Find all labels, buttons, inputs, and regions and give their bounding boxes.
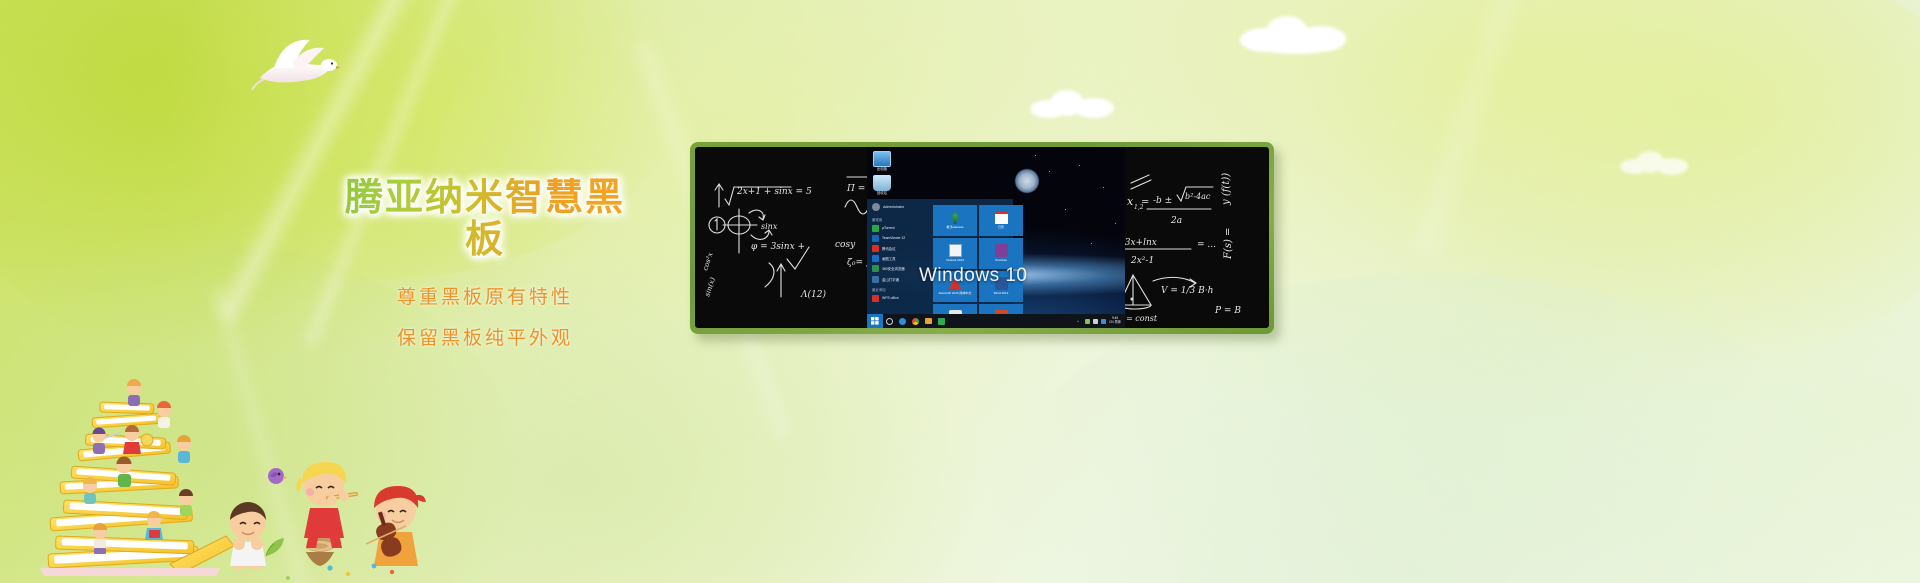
recycle-bin-icon [873, 175, 891, 191]
edge-icon[interactable] [896, 314, 909, 328]
confetti-dot [372, 564, 377, 569]
child-figure [145, 511, 163, 540]
hero-subtitle-1: 尊重黑板原有特性 [335, 288, 635, 307]
cloud-icon [1620, 150, 1690, 176]
svg-text:x: x [1127, 195, 1134, 208]
note-icon [995, 244, 1008, 257]
tile[interactable]: 日历 [979, 205, 1023, 236]
confetti-dot [286, 576, 290, 580]
child-figure [177, 435, 191, 463]
background-blob [1300, 0, 1920, 370]
app-icon [872, 255, 879, 262]
sprout-icon [266, 538, 284, 556]
child-sitting [230, 502, 266, 569]
svg-text:2x²-1: 2x²-1 [1130, 256, 1154, 266]
blackboard-surface[interactable]: 2x+1 + sinx = 5 Π = 3.1415926 sinx e x² … [695, 147, 1269, 328]
system-tray[interactable]: ^ 9:45 CN 简体 [1077, 317, 1125, 324]
windows-desktop-panel[interactable]: 此电脑 回收站 Administrator 最常用 [867, 147, 1125, 328]
child-flute [296, 462, 356, 548]
bird-icon [268, 468, 287, 484]
desktop-icon-computer[interactable]: 此电脑 [871, 151, 893, 172]
hero-text-block: 腾亚纳米智慧黑板 尊重黑板原有特性 保留黑板纯平外观 [335, 178, 635, 348]
svg-text:-b ±: -b ± [1153, 196, 1172, 206]
app-icon [872, 225, 879, 232]
windows-start-icon[interactable] [867, 314, 883, 328]
svg-text:= ...: = ... [1197, 240, 1216, 250]
app-icon [872, 276, 879, 283]
avatar [872, 203, 880, 211]
cloud-icon [1030, 88, 1116, 120]
page-title: 腾亚纳米智慧黑板 [335, 178, 635, 262]
windows-taskbar[interactable]: ^ 9:45 CN 简体 [867, 314, 1125, 328]
child-figure [157, 401, 171, 428]
svg-text:V = 1/3 B·h: V = 1/3 B·h [1161, 286, 1213, 296]
confetti-dot [390, 570, 394, 574]
cloud-icon [1240, 14, 1350, 54]
svg-text:=: = [1141, 197, 1149, 208]
network-icon[interactable] [1085, 319, 1090, 324]
light-streak [1405, 0, 1536, 259]
smart-blackboard-device[interactable]: 2x+1 + sinx = 5 Π = 3.1415926 sinx e x² … [690, 142, 1274, 334]
app-icon [872, 245, 879, 252]
taskbar-clock[interactable]: 9:45 CN 简体 [1109, 317, 1121, 324]
windows-version-label: Windows 10 [919, 265, 1028, 287]
svg-text:b²-4ac: b²-4ac [1185, 192, 1211, 201]
cortana-icon[interactable] [883, 314, 896, 328]
volume-icon[interactable] [1093, 319, 1098, 324]
blackboard-frame: 2x+1 + sinx = 5 Π = 3.1415926 sinx e x² … [690, 142, 1274, 334]
svg-text:2a: 2a [1170, 216, 1182, 226]
hero-subtitle-2: 保留黑板纯平外观 [335, 329, 635, 348]
child-figure [179, 489, 193, 516]
dove-icon [250, 34, 340, 92]
confetti-dot [346, 572, 350, 576]
desktop-icon-recycle-bin[interactable]: 回收站 [871, 175, 893, 196]
app-icon [872, 235, 879, 242]
confetti-dot [327, 565, 332, 570]
child-figure [83, 477, 97, 504]
shield-icon[interactable] [1101, 319, 1106, 324]
mail-icon [949, 244, 962, 257]
tile[interactable]: 希沃easinote [933, 205, 977, 236]
wps-icon[interactable] [935, 314, 948, 328]
app-icon [872, 295, 879, 302]
children-books-illustration [30, 368, 430, 583]
explorer-icon[interactable] [922, 314, 935, 328]
calendar-icon [995, 211, 1008, 224]
svg-text:y (f(t)): y (f(t)) [1221, 173, 1232, 206]
chrome-icon[interactable] [909, 314, 922, 328]
tree-icon [949, 211, 962, 224]
svg-text:F(s) =: F(s) = [1223, 228, 1234, 260]
chevron-up-icon[interactable]: ^ [1077, 319, 1082, 324]
svg-text:P = B: P = B [1214, 306, 1241, 316]
app-icon [872, 265, 879, 272]
child-violin [366, 486, 426, 566]
computer-icon [873, 151, 891, 167]
child-figure [127, 379, 141, 406]
